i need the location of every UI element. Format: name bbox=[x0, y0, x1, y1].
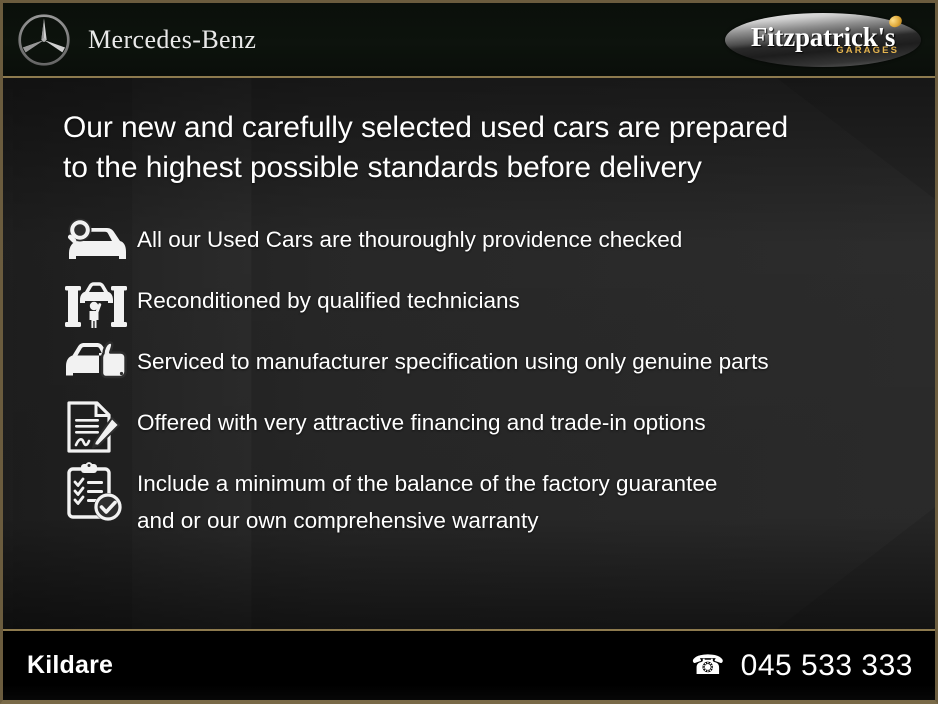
list-item-line-1: Reconditioned by qualified technicians bbox=[137, 282, 520, 319]
list-item-line-1: Include a minimum of the balance of the … bbox=[137, 465, 717, 502]
list-item-line-1: Offered with very attractive financing a… bbox=[137, 404, 706, 441]
list-item-line-1: Serviced to manufacturer specification u… bbox=[137, 343, 769, 380]
dealer-logo-subtitle: GARAGES bbox=[836, 45, 899, 56]
manufacturer-brand: Mercedes-Benz bbox=[17, 13, 256, 67]
list-item-text: Offered with very attractive financing a… bbox=[137, 398, 706, 441]
headline-line-1: Our new and carefully selected used cars… bbox=[63, 108, 893, 148]
header-bar: Mercedes-Benz Fitzpatrick's GARAGES bbox=[3, 3, 935, 78]
car-magnifier-icon bbox=[63, 215, 137, 267]
manufacturer-name: Mercedes-Benz bbox=[88, 25, 256, 55]
content-column: Our new and carefully selected used cars… bbox=[3, 78, 935, 539]
list-item-text: All our Used Cars are thouroughly provid… bbox=[137, 215, 682, 258]
main-content: Our new and carefully selected used cars… bbox=[3, 78, 935, 629]
telephone-icon: ☎ bbox=[691, 652, 725, 679]
list-item: Include a minimum of the balance of the … bbox=[63, 459, 935, 539]
page-title: Our new and carefully selected used cars… bbox=[63, 108, 893, 187]
list-item-text: Reconditioned by qualified technicians bbox=[137, 276, 520, 319]
dealer-logo[interactable]: Fitzpatrick's GARAGES bbox=[725, 9, 921, 71]
benefits-list: All our Used Cars are thouroughly provid… bbox=[63, 215, 935, 539]
headline-line-2: to the highest possible standards before… bbox=[63, 148, 893, 188]
list-item-text: Serviced to manufacturer specification u… bbox=[137, 337, 769, 380]
list-item: All our Used Cars are thouroughly provid… bbox=[63, 215, 935, 275]
list-item-line-1: All our Used Cars are thouroughly provid… bbox=[137, 221, 682, 258]
list-item: Serviced to manufacturer specification u… bbox=[63, 337, 935, 397]
dealer-promo-slide: Mercedes-Benz Fitzpatrick's GARAGES bbox=[0, 0, 938, 704]
location-label: Kildare bbox=[27, 651, 113, 680]
phone-number: 045 533 333 bbox=[741, 649, 913, 683]
list-item-line-2: and or our own comprehensive warranty bbox=[137, 502, 717, 539]
car-thumbs-up-icon bbox=[63, 337, 137, 385]
clipboard-check-icon bbox=[63, 459, 137, 523]
mercedes-star-icon bbox=[17, 13, 71, 67]
car-lift-technician-icon bbox=[63, 276, 137, 330]
list-item: Offered with very attractive financing a… bbox=[63, 398, 935, 458]
footer-bar: Kildare ☎ 045 533 333 bbox=[3, 629, 935, 700]
list-item-text: Include a minimum of the balance of the … bbox=[137, 459, 717, 539]
list-item: Reconditioned by qualified technicians bbox=[63, 276, 935, 336]
contract-pen-icon bbox=[63, 398, 137, 454]
contact-phone[interactable]: ☎ 045 533 333 bbox=[691, 649, 913, 683]
